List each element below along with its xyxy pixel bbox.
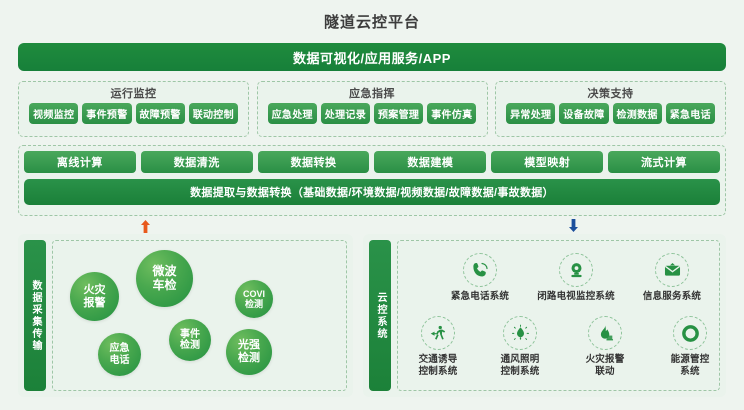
node-event-detect[interactable]: 事件 检测: [169, 319, 211, 361]
vertical-label-text: 数据采集传输: [29, 280, 41, 352]
chip-fault-warning[interactable]: 故障预警: [136, 103, 185, 124]
top-service-bar: 数据可视化/应用服务/APP: [18, 43, 726, 71]
node-fire-alarm[interactable]: 火灾 报警: [70, 272, 119, 321]
data-collection-section: 数据采集传输 火灾 报警 微波 车检 COVI 检测 应急 电话 事件 检测 光…: [18, 234, 353, 397]
message-mail-icon: [655, 253, 689, 287]
arrow-up-icon: [141, 220, 150, 233]
node-covi-detect[interactable]: COVI 检测: [235, 280, 273, 318]
chip-detection-data[interactable]: 检测数据: [613, 103, 662, 124]
system-label: 火灾报警 联动: [586, 354, 625, 378]
page-title: 隧道云控平台: [0, 11, 744, 32]
step-stream-compute[interactable]: 流式计算: [608, 151, 720, 173]
cloud-system-zone: 紧急电话系统 闭路电视监控系统: [397, 240, 720, 391]
system-label: 能源管控 系统: [671, 354, 710, 378]
chip-handling-record[interactable]: 处理记录: [321, 103, 370, 124]
chip-emergency-phone[interactable]: 紧急电话: [666, 103, 715, 124]
energy-ring-icon: [673, 316, 707, 350]
panel-title: 应急指挥: [349, 85, 395, 101]
panel-operation-monitoring: 运行监控 视频监控 事件预警 故障预警 联动控制: [18, 81, 249, 137]
arrow-down-icon: [569, 219, 578, 232]
step-data-modeling[interactable]: 数据建模: [374, 151, 486, 173]
system-cctv[interactable]: 闭路电视监控系统: [534, 253, 618, 303]
fire-flame-icon: [588, 316, 622, 350]
system-ventilation-lighting[interactable]: 通风照明 控制系统: [478, 316, 562, 378]
chip-equipment-fault[interactable]: 设备故障: [559, 103, 608, 124]
step-data-transform[interactable]: 数据转换: [258, 151, 370, 173]
system-icon-grid: 紧急电话系统 闭路电视监控系统: [398, 241, 719, 390]
system-energy-control[interactable]: 能源管控 系统: [648, 316, 732, 378]
chip-exception-handling[interactable]: 异常处理: [506, 103, 555, 124]
panel-title: 运行监控: [111, 85, 157, 101]
ventilation-icon: [503, 316, 537, 350]
cctv-camera-icon: [559, 253, 593, 287]
chip-row: 异常处理 设备故障 检测数据 紧急电话: [506, 103, 715, 124]
panel-emergency-command: 应急指挥 应急处理 处理记录 预案管理 事件仿真: [257, 81, 488, 137]
functional-panel-row: 运行监控 视频监控 事件预警 故障预警 联动控制 应急指挥 应急处理 处理记录 …: [18, 81, 726, 137]
processing-layer: 离线计算 数据清洗 数据转换 数据建模 模型映射 流式计算 数据提取与数据转换（…: [18, 145, 726, 216]
exit-running-icon: [421, 316, 455, 350]
step-model-mapping[interactable]: 模型映射: [491, 151, 603, 173]
system-label: 通风照明 控制系统: [501, 354, 540, 378]
system-fire-alarm-linkage[interactable]: 火灾报警 联动: [563, 316, 647, 378]
node-emergency-call[interactable]: 应急 电话: [98, 333, 141, 376]
chip-emergency-handling[interactable]: 应急处理: [268, 103, 317, 124]
data-collection-vertical-label: 数据采集传输: [24, 240, 46, 391]
bottom-sections: 数据采集传输 火灾 报警 微波 车检 COVI 检测 应急 电话 事件 检测 光…: [18, 234, 726, 397]
chip-row: 视频监控 事件预警 故障预警 联动控制: [29, 103, 238, 124]
panel-decision-support: 决策支持 异常处理 设备故障 检测数据 紧急电话: [495, 81, 726, 137]
chip-event-warning[interactable]: 事件预警: [82, 103, 131, 124]
system-traffic-guidance[interactable]: 交通诱导 控制系统: [396, 316, 480, 378]
chip-linkage-control[interactable]: 联动控制: [189, 103, 238, 124]
system-label: 闭路电视监控系统: [537, 291, 615, 303]
data-extraction-bar: 数据提取与数据转换（基础数据/环境数据/视频数据/故障数据/事故数据）: [24, 179, 720, 205]
phone-icon: [463, 253, 497, 287]
chip-plan-management[interactable]: 预案管理: [374, 103, 423, 124]
cloud-control-vertical-label: 云控系统: [369, 240, 391, 391]
step-offline-compute[interactable]: 离线计算: [24, 151, 136, 173]
system-label: 紧急电话系统: [451, 291, 509, 303]
chip-event-simulation[interactable]: 事件仿真: [427, 103, 476, 124]
chip-row: 应急处理 处理记录 预案管理 事件仿真: [268, 103, 477, 124]
panel-title: 决策支持: [588, 85, 634, 101]
step-data-cleaning[interactable]: 数据清洗: [141, 151, 253, 173]
cloud-control-section: 云控系统 紧急电话系统: [363, 234, 726, 397]
system-label: 交通诱导 控制系统: [419, 354, 458, 378]
collection-node-zone: 火灾 报警 微波 车检 COVI 检测 应急 电话 事件 检测 光强 检测: [52, 240, 347, 391]
system-info-service[interactable]: 信息服务系统: [630, 253, 714, 303]
node-microwave-veh[interactable]: 微波 车检: [136, 250, 193, 307]
infographic-root: 隧道云控平台 数据可视化/应用服务/APP 运行监控 视频监控 事件预警 故障预…: [0, 0, 744, 410]
system-label: 信息服务系统: [643, 291, 701, 303]
node-light-detect[interactable]: 光强 检测: [226, 329, 272, 375]
system-emergency-phone[interactable]: 紧急电话系统: [438, 253, 522, 303]
processing-step-row: 离线计算 数据清洗 数据转换 数据建模 模型映射 流式计算: [24, 151, 720, 173]
chip-video-monitoring[interactable]: 视频监控: [29, 103, 78, 124]
vertical-label-text: 云控系统: [374, 292, 386, 340]
